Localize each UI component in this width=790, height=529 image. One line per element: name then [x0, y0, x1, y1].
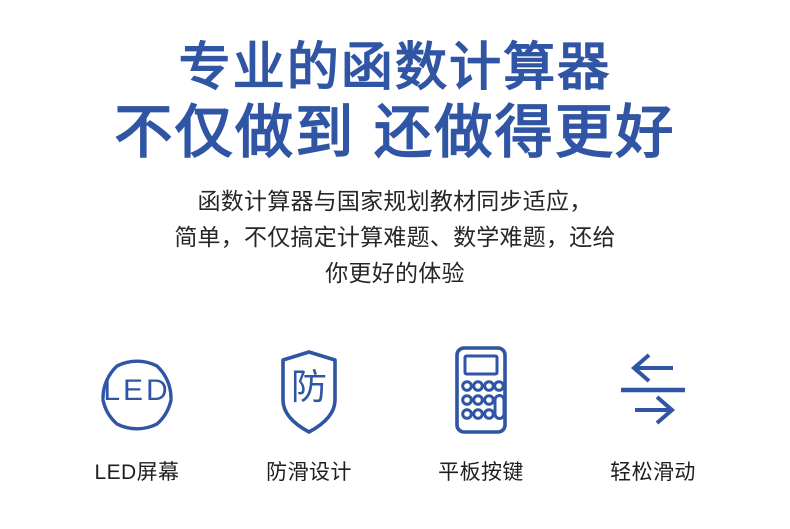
feature-item-led: LED LED屏幕: [62, 340, 212, 486]
led-circle-icon: LED: [89, 340, 185, 440]
feature-list: LED LED屏幕 防 防滑设计: [0, 340, 790, 486]
shield-icon: 防: [261, 340, 357, 440]
headline-line-2: 不仅做到 还做得更好: [0, 104, 790, 162]
calculator-icon: [433, 340, 529, 440]
subtitle-line-3: 你更好的体验: [0, 255, 790, 291]
feature-label-led: LED屏幕: [95, 456, 180, 486]
headline-line-1: 专业的函数计算器: [0, 42, 790, 94]
feature-label-shield: 防滑设计: [266, 456, 352, 486]
shield-icon-text: 防: [291, 366, 327, 407]
feature-label-swipe: 轻松滑动: [610, 456, 696, 486]
led-icon-text: LED: [103, 374, 170, 407]
feature-item-shield: 防 防滑设计: [234, 340, 384, 486]
feature-item-calculator: 平板按键: [406, 340, 556, 486]
subtitle-paragraph: 函数计算器与国家规划教材同步适应， 简单，不仅搞定计算难题、数学难题，还给 你更…: [0, 183, 790, 291]
feature-item-swipe: 轻松滑动: [578, 340, 728, 486]
subtitle-line-2: 简单，不仅搞定计算难题、数学难题，还给: [0, 219, 790, 255]
product-feature-banner: 专业的函数计算器 不仅做到 还做得更好 函数计算器与国家规划教材同步适应， 简单…: [0, 0, 790, 529]
swipe-arrows-icon: [605, 340, 701, 440]
subtitle-line-1: 函数计算器与国家规划教材同步适应，: [0, 183, 790, 219]
feature-label-calculator: 平板按键: [438, 456, 524, 486]
